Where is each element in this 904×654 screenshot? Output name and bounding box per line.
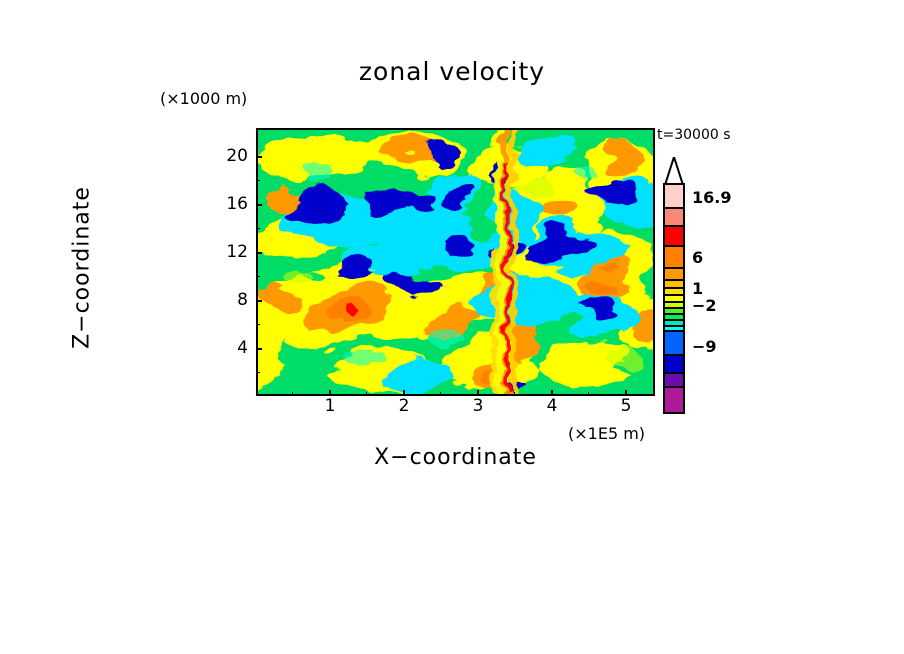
y-tick-minor [256, 324, 260, 325]
x-tick-label: 5 [611, 396, 641, 416]
x-tick-minor [292, 392, 293, 396]
colorbar-label-0: 16.9 [692, 188, 731, 207]
colorbar-label-3: −2 [692, 296, 717, 315]
y-tick-16 [256, 204, 262, 206]
colorbar-band [663, 281, 685, 289]
y-axis-unit-label: (×1000 m) [160, 89, 247, 108]
x-tick-minor [514, 392, 515, 396]
y-tick-label: 12 [214, 242, 248, 262]
y-axis-label: Z−coordinate [70, 133, 95, 403]
y-tick-minor [256, 228, 260, 229]
colorbar-band [663, 296, 685, 303]
x-tick-minor [440, 392, 441, 396]
colorbar-band [663, 388, 685, 414]
y-tick-label: 4 [214, 338, 248, 358]
y-tick-minor [256, 372, 260, 373]
colorbar-band [663, 332, 685, 356]
y-tick-label: 8 [214, 290, 248, 310]
contour-plot-area [256, 128, 655, 396]
page-title: zonal velocity [0, 57, 904, 86]
colorbar-arrow-icon [663, 157, 685, 185]
colorbar-band [663, 227, 685, 247]
colorbar [663, 183, 685, 414]
colorbar-band [663, 247, 685, 269]
x-tick-label: 4 [537, 396, 567, 416]
colorbar-band [663, 269, 685, 281]
x-tick-label: 1 [315, 396, 345, 416]
colorbar-label-4: −9 [692, 337, 717, 356]
y-tick-label: 20 [214, 146, 248, 166]
y-tick-4 [256, 348, 262, 350]
x-tick-minor [588, 392, 589, 396]
x-tick-label: 2 [389, 396, 419, 416]
colorbar-label-1: 6 [692, 248, 703, 267]
figure-canvas: zonal velocity (×1000 m) t=30000 s [0, 0, 904, 654]
y-tick-label: 16 [214, 194, 248, 214]
x-axis-unit-label: (×1E5 m) [568, 424, 645, 443]
y-tick-8 [256, 300, 262, 302]
timestamp-annotation: t=30000 s [657, 127, 731, 143]
velocity-field [258, 130, 653, 394]
colorbar-band [663, 289, 685, 296]
y-tick-20 [256, 156, 262, 158]
x-axis-label: X−coordinate [256, 445, 655, 470]
colorbar-band [663, 356, 685, 374]
x-tick-label: 3 [463, 396, 493, 416]
x-tick-minor [366, 392, 367, 396]
y-tick-minor [256, 276, 260, 277]
y-tick-12 [256, 252, 262, 254]
colorbar-band [663, 183, 685, 209]
colorbar-band [663, 374, 685, 388]
colorbar-band [663, 209, 685, 227]
y-tick-minor [256, 180, 260, 181]
